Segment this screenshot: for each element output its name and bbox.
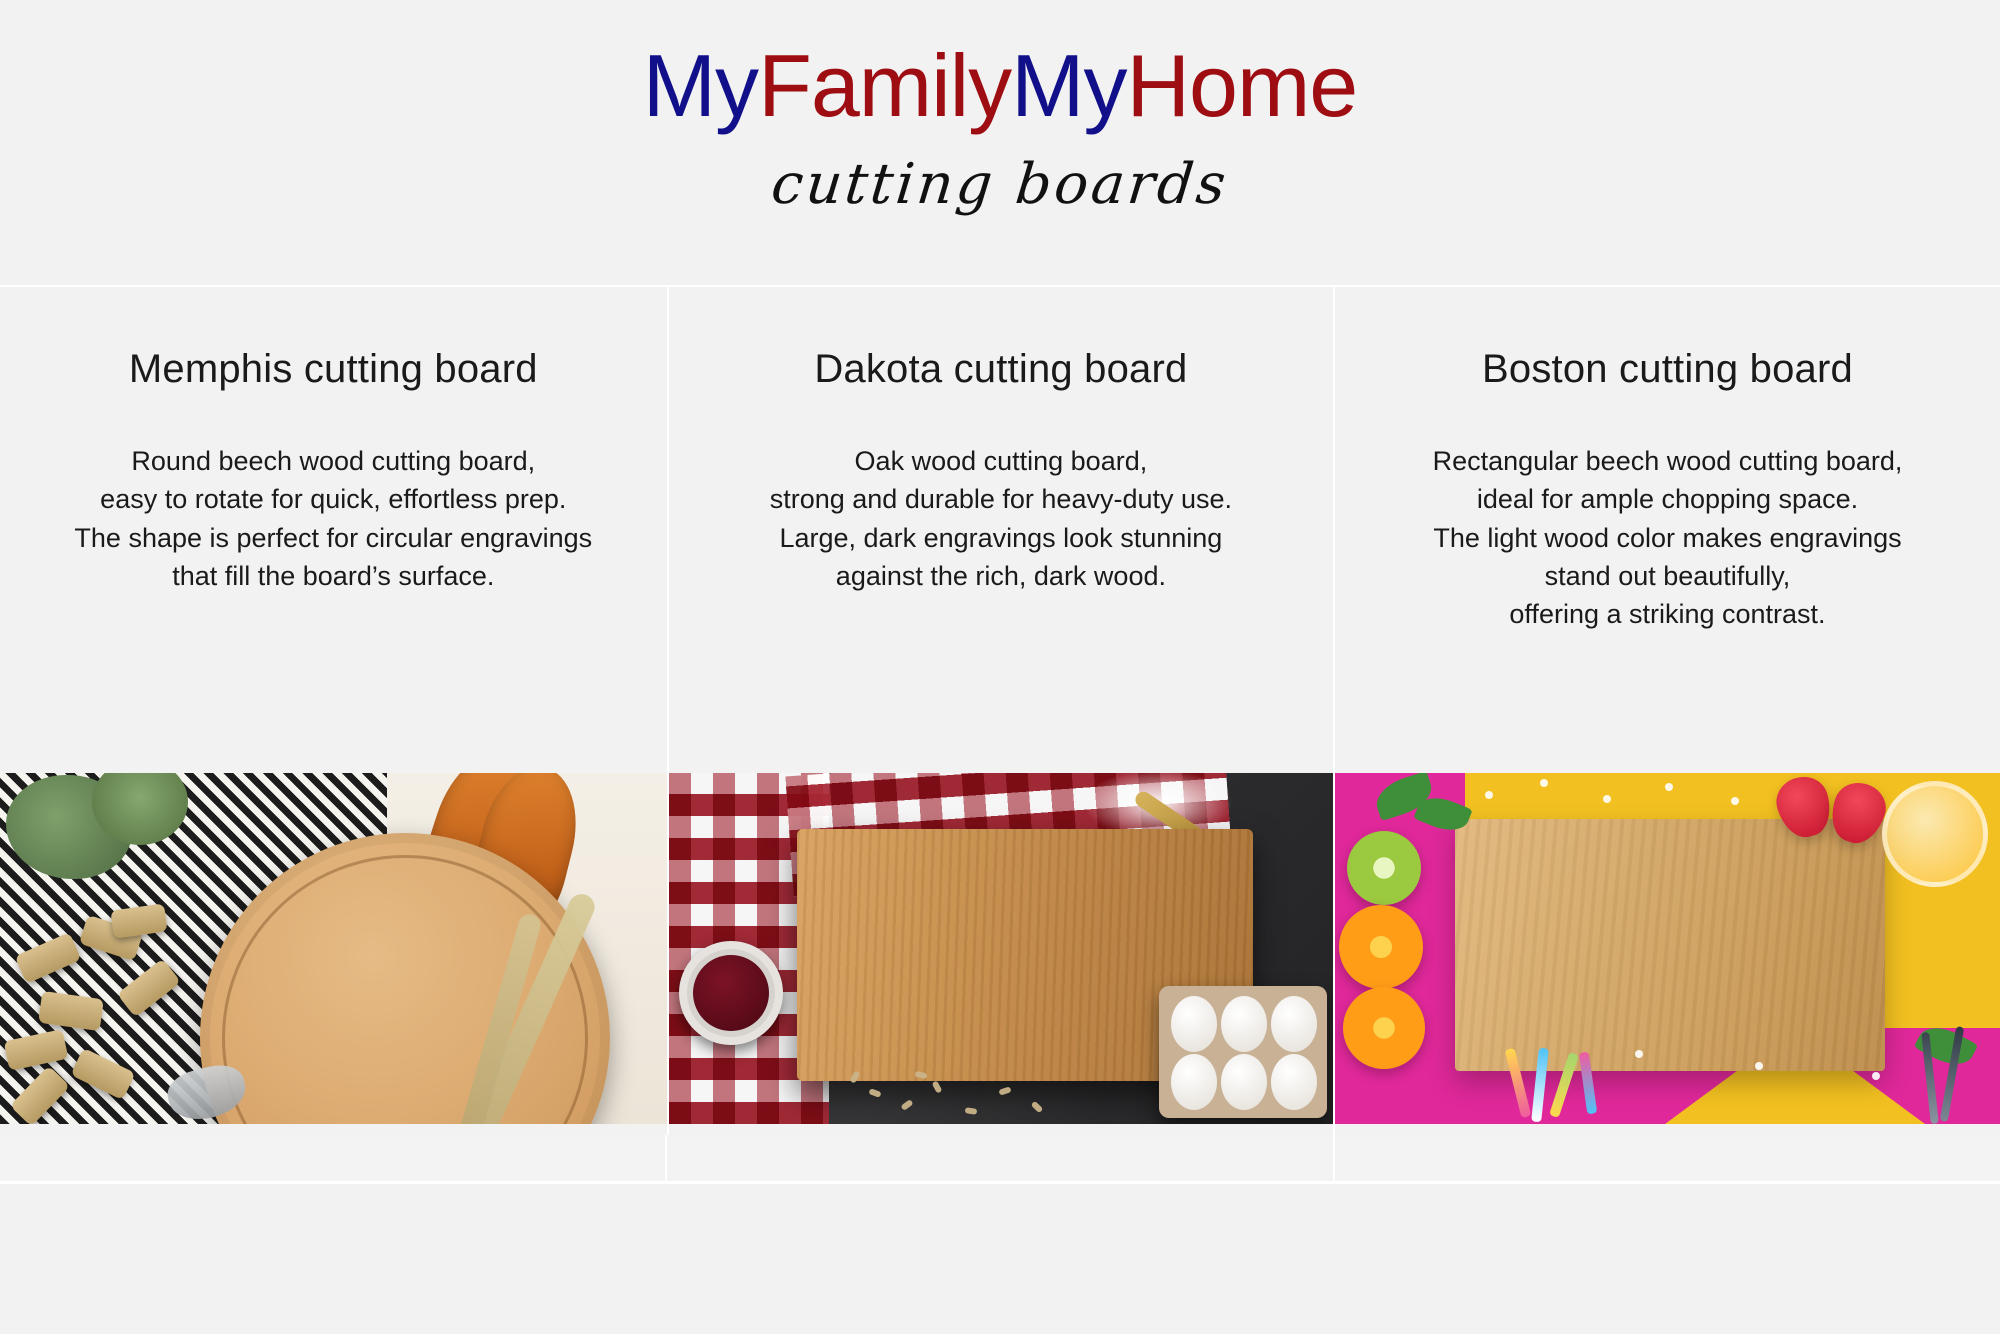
product-title-memphis: Memphis cutting board — [0, 287, 667, 392]
wine-cork — [4, 1029, 69, 1071]
rectangular-cutting-board — [1455, 819, 1885, 1071]
oat-flake — [931, 1080, 942, 1093]
wine-cork — [117, 958, 181, 1017]
confetti-dot — [1872, 1072, 1880, 1080]
juice-glass — [1882, 781, 1988, 887]
egg-carton — [1159, 986, 1327, 1118]
wine-cup — [679, 941, 783, 1045]
oat-flake — [868, 1088, 881, 1098]
dakota-board-image — [669, 773, 1334, 1124]
wine-cork — [70, 1048, 135, 1100]
wine-cork — [10, 1065, 70, 1124]
confetti-dot — [1540, 779, 1548, 787]
brand-word-my-2: My — [1011, 36, 1126, 135]
bottom-cell-2 — [665, 1135, 1332, 1181]
memphis-board-image — [0, 773, 667, 1124]
product-photo-boston[interactable] — [1335, 773, 2000, 1124]
confetti-dot — [1665, 783, 1673, 791]
bottom-column-strip — [0, 1135, 2000, 1181]
product-title-boston: Boston cutting board — [1335, 287, 2000, 392]
bottom-cell-1 — [0, 1135, 665, 1181]
brand-logo[interactable]: MyFamilyMyHome — [0, 40, 2000, 132]
wine-cork — [38, 991, 104, 1031]
brand-word-home: Home — [1126, 36, 1357, 135]
confetti-dot — [1603, 795, 1611, 803]
oat-flake — [1030, 1101, 1043, 1114]
oat-flake — [964, 1107, 977, 1115]
product-description-boston: Rectangular beech wood cutting board, id… — [1335, 392, 2000, 634]
egg — [1271, 1054, 1317, 1110]
wine-cork — [14, 932, 81, 984]
lime-half — [1347, 831, 1421, 905]
egg — [1221, 1054, 1267, 1110]
orange-half-1 — [1339, 905, 1423, 989]
page-header: MyFamilyMyHome cutting boards — [0, 0, 2000, 286]
product-title-dakota: Dakota cutting board — [669, 287, 1334, 392]
egg — [1171, 1054, 1217, 1110]
product-card-memphis[interactable]: Memphis cutting board Round beech wood c… — [0, 287, 667, 1171]
boston-board-image — [1335, 773, 2000, 1124]
page-footer — [0, 1184, 2000, 1334]
wine-cork — [110, 903, 167, 938]
product-description-memphis: Round beech wood cutting board, easy to … — [0, 392, 667, 595]
product-comparison-page: MyFamilyMyHome cutting boards Memphis cu… — [0, 0, 2000, 1334]
oat-flake — [900, 1099, 913, 1111]
page-tagline: cutting boards — [0, 152, 2000, 217]
product-photo-memphis[interactable] — [0, 773, 667, 1124]
oat-flake — [998, 1086, 1011, 1095]
egg — [1221, 996, 1267, 1052]
egg — [1271, 996, 1317, 1052]
confetti-dot — [1731, 797, 1739, 805]
product-card-boston[interactable]: Boston cutting board Rectangular beech w… — [1333, 287, 2000, 1171]
bottom-cell-3 — [1333, 1135, 2000, 1181]
product-description-dakota: Oak wood cutting board, strong and durab… — [669, 392, 1334, 595]
product-columns: Memphis cutting board Round beech wood c… — [0, 287, 2000, 1171]
product-photo-dakota[interactable] — [669, 773, 1334, 1124]
brand-word-my-1: My — [643, 36, 758, 135]
product-card-dakota[interactable]: Dakota cutting board Oak wood cutting bo… — [667, 287, 1334, 1171]
orange-half-2 — [1343, 987, 1425, 1069]
confetti-dot — [1485, 791, 1493, 799]
egg — [1171, 996, 1217, 1052]
brand-word-family: Family — [758, 36, 1011, 135]
